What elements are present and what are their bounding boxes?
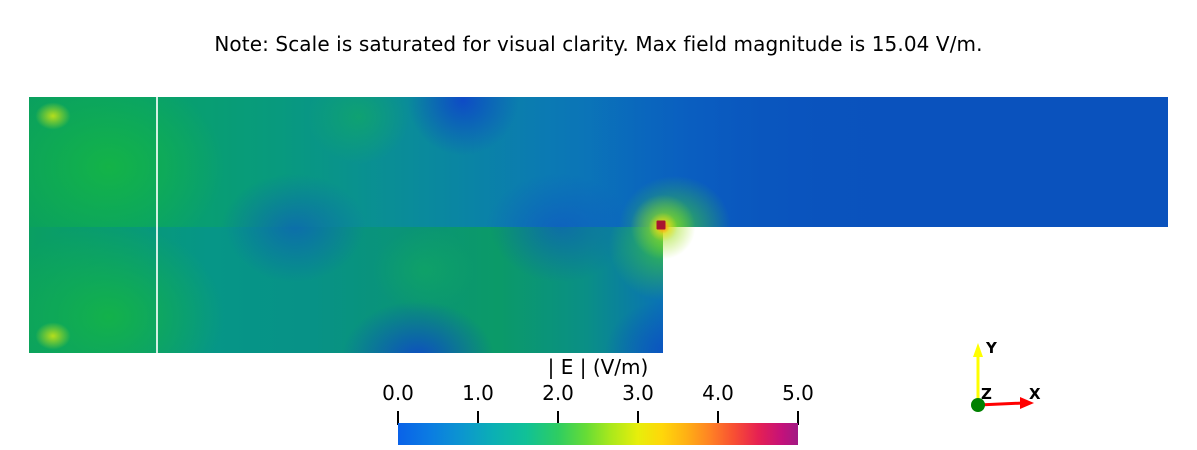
field-base-gradient-lower (29, 227, 663, 353)
field-region-upper (29, 97, 1168, 227)
singularity-hot-core (657, 221, 666, 230)
legend-tick-label: 3.0 (608, 381, 668, 405)
legend-tick-label: 5.0 (768, 381, 828, 405)
legend-tick-label: 4.0 (688, 381, 748, 405)
legend-tick-labels: 0.01.02.03.04.05.0 (0, 381, 1197, 407)
field-render-view[interactable]: Y Z X (0, 85, 1197, 365)
legend-tick-label: 2.0 (528, 381, 588, 405)
field-region-lower (29, 227, 663, 353)
saturation-note: Note: Scale is saturated for visual clar… (0, 32, 1197, 56)
legend-title: | E | (V/m) (398, 355, 798, 379)
legend-tick-label: 0.0 (368, 381, 428, 405)
color-legend[interactable]: | E | (V/m) 0.01.02.03.04.05.0 (0, 355, 1197, 450)
legend-color-bar[interactable] (398, 423, 798, 445)
mesh-interface-line (156, 97, 158, 353)
field-base-gradient-upper (29, 97, 1168, 227)
legend-tick-label: 1.0 (448, 381, 508, 405)
